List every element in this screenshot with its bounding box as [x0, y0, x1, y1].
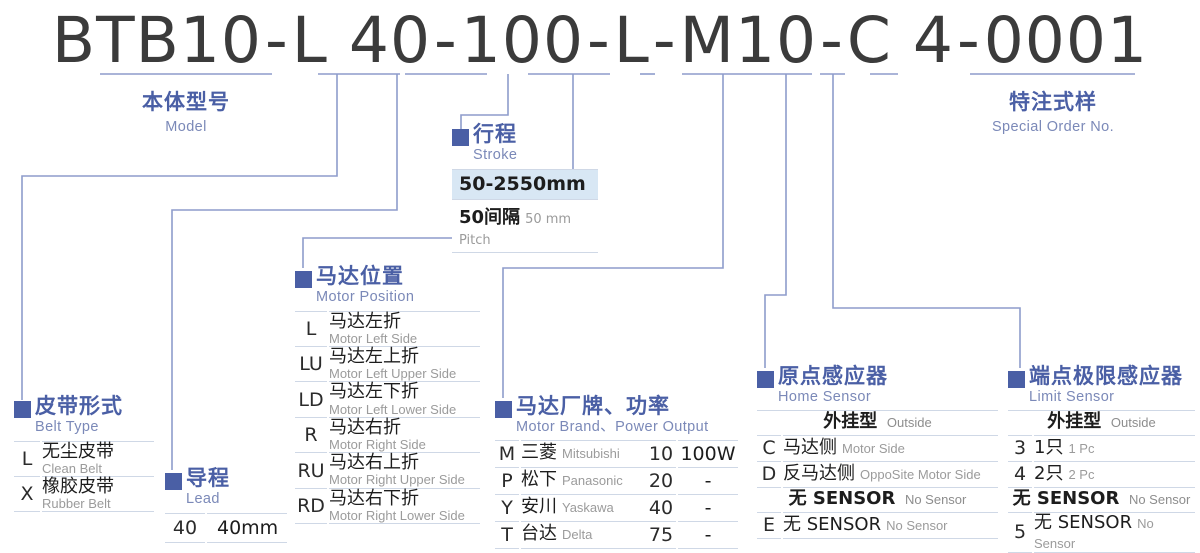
value-en: Clean Belt: [42, 462, 154, 476]
callout-lead-title-cn: 导程: [186, 466, 230, 490]
value-en: No Sensor: [886, 518, 947, 533]
table-key-cell: 4: [1008, 461, 1033, 487]
table-group-cell: 外挂型 Outside: [1008, 410, 1195, 435]
value-cn: 1只: [1034, 437, 1063, 458]
value-en: Rubber Belt: [42, 497, 154, 511]
callout-motor-brand-title-cn: 马达厂牌、功率: [516, 394, 670, 418]
code-segment-motor-position: L: [614, 4, 650, 77]
table-row[interactable]: 5无 SENSORNo Sensor: [1008, 512, 1195, 552]
table-value-cell: 安川Yaskawa: [520, 494, 646, 521]
table-row[interactable]: D反马达侧OppoSite Motor Side: [757, 461, 998, 487]
table-key-cell: 5: [1008, 512, 1033, 552]
table-value-cell: 2只2 Pc: [1033, 461, 1195, 487]
table-value-cell: 1只1 Pc: [1033, 435, 1195, 461]
table-value-cell: 三菱Mitsubishi: [520, 440, 646, 467]
home-sensor-table: 外挂型 OutsideC马达侧Motor SideD反马达侧OppoSite M…: [757, 410, 998, 539]
table-row[interactable]: Y安川Yaskawa40-: [495, 494, 738, 521]
table-key-cell: D: [757, 461, 782, 487]
belt-type-table: L无尘皮带Clean BeltX橡胶皮带Rubber Belt: [14, 441, 154, 513]
table-power-value-cell: -: [677, 494, 738, 521]
value-cn: 马达侧: [783, 437, 837, 458]
bullet-square-icon: [14, 401, 31, 418]
callout-stroke-title-en: Stroke: [473, 148, 517, 163]
table-key-cell: Y: [495, 494, 520, 521]
code-separator: -: [584, 4, 614, 77]
callout-limit-sensor: 端点极限感应器 Limit Sensor 外挂型 Outside31只1 Pc4…: [1008, 366, 1195, 553]
table-row[interactable]: LU马达左上折Motor Left Upper Side: [295, 346, 480, 381]
value-cn: 台达: [521, 523, 557, 544]
group-cn: 无 SENSOR: [789, 488, 896, 509]
code-segment-model: BTB10: [52, 4, 262, 77]
table-key-cell: 3: [1008, 435, 1033, 461]
table-row[interactable]: L无尘皮带Clean Belt: [14, 441, 154, 476]
stroke-pitch-cn: 50间隔: [459, 207, 520, 228]
table-group-cell: 外挂型 Outside: [757, 410, 998, 435]
value-en: Delta: [562, 527, 592, 542]
table-key-cell: M: [495, 440, 520, 467]
table-value-cell: 橡胶皮带Rubber Belt: [41, 476, 154, 511]
table-group-cell: 无 SENSOR No Sensor: [757, 487, 998, 512]
table-group-row: 外挂型 Outside: [757, 410, 998, 435]
table-power-key-cell: 75: [646, 521, 677, 548]
table-row[interactable]: T台达Delta75-: [495, 521, 738, 548]
callout-motor-position-title-en: Motor Position: [316, 290, 414, 305]
value-cn: 马达右折: [329, 418, 480, 438]
callout-belt-type-title-en: Belt Type: [35, 420, 123, 435]
table-power-key-cell: 10: [646, 440, 677, 467]
table-power-value-cell: 100W: [677, 440, 738, 467]
table-value-cell: 反马达侧OppoSite Motor Side: [782, 461, 998, 487]
value-en: Yaskawa: [562, 500, 614, 515]
table-value-cell: 无 SENSORNo Sensor: [1033, 512, 1195, 552]
callout-motor-brand: 马达厂牌、功率 Motor Brand、Power Output M三菱Mits…: [495, 396, 738, 549]
callout-belt-type: 皮带形式 Belt Type L无尘皮带Clean BeltX橡胶皮带Rubbe…: [14, 396, 154, 512]
table-row[interactable]: R马达右折Motor Right Side: [295, 417, 480, 452]
value-cn: 反马达侧: [783, 463, 855, 484]
group-en: Outside: [883, 415, 931, 430]
table-row[interactable]: RU马达右上折Motor Right Upper Side: [295, 453, 480, 488]
motor-position-table: L马达左折Motor Left SideLU马达左上折Motor Left Up…: [295, 311, 480, 525]
callout-lead: 导程 Lead 4040mm: [165, 468, 287, 543]
group-cn: 外挂型: [1047, 411, 1101, 432]
callout-limit-sensor-title-en: Limit Sensor: [1029, 390, 1183, 405]
bullet-square-icon: [295, 271, 312, 288]
group-en: Outside: [1107, 415, 1155, 430]
code-segment-stroke: 100: [461, 4, 584, 77]
bullet-square-icon: [165, 473, 182, 490]
callout-special-order-title-en: Special Order No.: [965, 119, 1141, 135]
table-value-cell: 马达右折Motor Right Side: [328, 417, 480, 452]
table-row[interactable]: P松下Panasonic20-: [495, 467, 738, 494]
value-en: Motor Left Upper Side: [329, 367, 480, 381]
value-en: Motor Left Side: [329, 332, 480, 346]
table-power-value-cell: -: [677, 467, 738, 494]
value-cn: 无 SENSOR: [783, 514, 881, 535]
bullet-square-icon: [757, 371, 774, 388]
value-cn: 马达右上折: [329, 453, 480, 473]
value-cn: 无尘皮带: [42, 442, 154, 462]
value-en: OppoSite Motor Side: [860, 467, 981, 482]
table-row[interactable]: 31只1 Pc: [1008, 435, 1195, 461]
value-cn: 无 SENSOR: [1034, 512, 1132, 533]
value-cn: 橡胶皮带: [42, 477, 154, 497]
callout-motor-position-title-cn: 马达位置: [316, 264, 404, 288]
table-key-cell: RD: [295, 488, 328, 523]
table-value-cell: 无尘皮带Clean Belt: [41, 441, 154, 476]
code-separator: -: [817, 4, 847, 77]
table-value-cell: 马达左下折Motor Left Lower Side: [328, 382, 480, 417]
value-en: Motor Side: [842, 441, 905, 456]
table-key-cell: X: [14, 476, 41, 511]
table-value-cell: 马达左折Motor Left Side: [328, 311, 480, 346]
bullet-square-icon: [1008, 371, 1025, 388]
value-cn: 2只: [1034, 463, 1063, 484]
table-value-cell: 马达右上折Motor Right Upper Side: [328, 453, 480, 488]
table-row[interactable]: E无 SENSORNo Sensor: [757, 512, 998, 538]
group-en: No Sensor: [901, 492, 966, 507]
callout-belt-type-title-cn: 皮带形式: [35, 394, 123, 418]
callout-model: 本体型号 Model: [110, 86, 262, 135]
diagram-canvas: BTB10-L 40-100-L-M10-C 4-0001 本体型号 Model…: [0, 0, 1200, 551]
table-value-cell: 马达侧Motor Side: [782, 435, 998, 461]
lead-table: 4040mm: [165, 513, 287, 543]
value-cn: 马达右下折: [329, 489, 480, 509]
model-code: BTB10-L 40-100-L-M10-C 4-0001: [0, 4, 1200, 77]
code-segment-special-order: 0001: [984, 4, 1148, 77]
table-key-cell: L: [14, 441, 41, 476]
group-cn: 外挂型: [823, 411, 877, 432]
value-cn: 马达左上折: [329, 347, 480, 367]
value-cn: 松下: [521, 469, 557, 490]
callout-home-sensor-title-en: Home Sensor: [778, 390, 888, 405]
callout-model-title-en: Model: [110, 119, 262, 135]
table-row[interactable]: 4040mm: [165, 513, 287, 542]
table-row[interactable]: M三菱Mitsubishi10100W: [495, 440, 738, 467]
table-value-cell: 无 SENSORNo Sensor: [782, 512, 998, 538]
value-en: 1 Pc: [1068, 441, 1094, 456]
table-group-row: 无 SENSOR No Sensor: [757, 487, 998, 512]
value-en: Motor Left Lower Side: [329, 403, 480, 417]
code-segment-sensors: C 4: [847, 4, 954, 77]
callout-special-order-title-cn: 特注式样: [965, 86, 1141, 116]
limit-sensor-table: 外挂型 Outside31只1 Pc42只2 Pc无 SENSOR No Sen…: [1008, 410, 1195, 553]
group-en: No Sensor: [1125, 492, 1190, 507]
table-key-cell: P: [495, 467, 520, 494]
value-en: Motor Right Upper Side: [329, 473, 480, 487]
table-value-cell: 马达左上折Motor Left Upper Side: [328, 346, 480, 381]
table-value-cell: 40mm: [206, 513, 287, 542]
table-value-cell: 台达Delta: [520, 521, 646, 548]
table-key-cell: E: [757, 512, 782, 538]
table-group-row: 外挂型 Outside: [1008, 410, 1195, 435]
value-cn: 马达左折: [329, 312, 480, 332]
table-key-cell: C: [757, 435, 782, 461]
callout-stroke-title-cn: 行程: [473, 122, 517, 146]
callout-motor-brand-title-en: Motor Brand、Power Output: [516, 420, 709, 435]
table-row[interactable]: LD马达左下折Motor Left Lower Side: [295, 382, 480, 417]
callout-motor-position: 马达位置 Motor Position L马达左折Motor Left Side…: [295, 266, 480, 524]
bullet-square-icon: [495, 401, 512, 418]
table-key-cell: LU: [295, 346, 328, 381]
callout-special-order: 特注式样 Special Order No.: [965, 86, 1141, 135]
code-separator: -: [954, 4, 984, 77]
table-key-cell: T: [495, 521, 520, 548]
table-key-cell: LD: [295, 382, 328, 417]
stroke-range: 50-2550mm: [452, 169, 598, 200]
table-value-cell: 松下Panasonic: [520, 467, 646, 494]
table-row[interactable]: C马达侧Motor Side: [757, 435, 998, 461]
value-en: Motor Right Side: [329, 438, 480, 452]
value-cn: 马达左下折: [329, 382, 480, 402]
value-en: 2 Pc: [1068, 467, 1094, 482]
table-power-key-cell: 40: [646, 494, 677, 521]
table-power-key-cell: 20: [646, 467, 677, 494]
value-en: Panasonic: [562, 473, 623, 488]
group-cn: 无 SENSOR: [1013, 488, 1120, 509]
code-separator: -: [650, 4, 680, 77]
table-group-cell: 无 SENSOR No Sensor: [1008, 487, 1195, 512]
callout-limit-sensor-title-cn: 端点极限感应器: [1029, 364, 1183, 388]
code-separator: -: [431, 4, 461, 77]
table-row[interactable]: L马达左折Motor Left Side: [295, 311, 480, 346]
callout-home-sensor: 原点感应器 Home Sensor 外挂型 OutsideC马达侧Motor S…: [757, 366, 998, 539]
value-en: Mitsubishi: [562, 446, 620, 461]
callout-stroke: 行程 Stroke 50-2550mm 50间隔50 mm Pitch: [452, 124, 598, 253]
table-key-cell: L: [295, 311, 328, 346]
table-group-row: 无 SENSOR No Sensor: [1008, 487, 1195, 512]
table-key-cell: R: [295, 417, 328, 452]
callout-lead-title-en: Lead: [186, 492, 230, 507]
code-segment-belt-lead: L 40: [292, 4, 431, 77]
bullet-square-icon: [452, 129, 469, 146]
table-key-cell: RU: [295, 453, 328, 488]
table-key-cell: 40: [165, 513, 206, 542]
value-en: Motor Right Lower Side: [329, 509, 480, 523]
value-cn: 安川: [521, 496, 557, 517]
value-cn: 三菱: [521, 442, 557, 463]
motor-brand-table: M三菱Mitsubishi10100WP松下Panasonic20-Y安川Yas…: [495, 440, 738, 549]
callout-model-title-cn: 本体型号: [110, 86, 262, 116]
table-value-cell: 马达右下折Motor Right Lower Side: [328, 488, 480, 523]
code-separator: -: [262, 4, 292, 77]
table-row[interactable]: X橡胶皮带Rubber Belt: [14, 476, 154, 511]
table-row[interactable]: 42只2 Pc: [1008, 461, 1195, 487]
callout-home-sensor-title-cn: 原点感应器: [778, 364, 888, 388]
stroke-pitch: 50间隔50 mm Pitch: [452, 200, 598, 253]
stroke-table: 50-2550mm 50间隔50 mm Pitch: [452, 169, 598, 253]
code-segment-motor-brand: M10: [680, 4, 818, 77]
table-power-value-cell: -: [677, 521, 738, 548]
table-row[interactable]: RD马达右下折Motor Right Lower Side: [295, 488, 480, 523]
